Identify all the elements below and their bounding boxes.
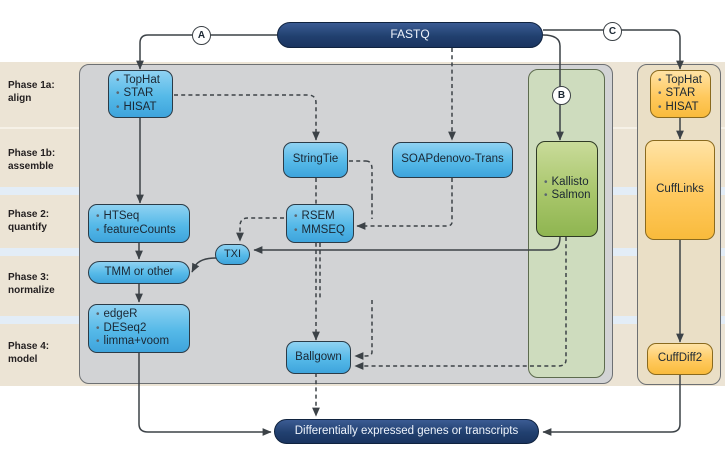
node-ballgown[interactable]: Ballgown [286, 341, 351, 374]
node-models[interactable]: edgeR DESeq2 limma+voom [88, 304, 190, 353]
node-models-item-1: DESeq2 [96, 322, 182, 336]
node-rsem-item-0: RSEM [294, 210, 346, 224]
node-output[interactable]: Differentially expressed genes or transc… [274, 419, 539, 444]
node-stringtie-label: StringTie [293, 153, 339, 167]
node-htseq-item-0: HTSeq [96, 210, 182, 224]
node-pseudoaligners-item-1: Salmon [544, 189, 590, 203]
node-aligners-gray-item-1: STAR [116, 87, 165, 101]
node-fastq-label: FASTQ [390, 28, 429, 42]
node-rsem-item-1: MMSEQ [294, 224, 346, 238]
node-output-label: Differentially expressed genes or transc… [295, 425, 519, 439]
marker-b-icon: B [552, 86, 571, 105]
node-soapdenovo[interactable]: SOAPdenovo-Trans [392, 142, 513, 178]
node-models-item-2: limma+voom [96, 335, 182, 349]
node-fastq[interactable]: FASTQ [277, 22, 543, 48]
node-aligners-gray[interactable]: TopHat STAR HISAT [108, 70, 173, 118]
node-tmm-label: TMM or other [104, 266, 173, 280]
node-cufflinks-label: CuffLinks [656, 183, 704, 197]
node-models-item-0: edgeR [96, 308, 182, 322]
node-aligners-orange-item-2: HISAT [658, 101, 703, 115]
node-aligners-orange-item-0: TopHat [658, 74, 703, 88]
node-ballgown-label: Ballgown [295, 351, 342, 365]
node-cuffdiff2-label: CuffDiff2 [658, 352, 702, 366]
node-aligners-orange-item-1: STAR [658, 87, 703, 101]
node-txi-label: TXI [224, 248, 241, 262]
node-htseq-item-1: featureCounts [96, 224, 182, 238]
marker-a-icon: A [192, 26, 211, 45]
node-aligners-orange[interactable]: TopHat STAR HISAT [650, 70, 711, 118]
marker-c-label: C [609, 26, 616, 37]
marker-b-label: B [558, 90, 565, 101]
node-soapdenovo-label: SOAPdenovo-Trans [401, 153, 503, 167]
node-rsem[interactable]: RSEM MMSEQ [286, 204, 354, 243]
node-aligners-gray-item-0: TopHat [116, 74, 165, 88]
node-pseudoaligners-item-0: Kallisto [544, 176, 590, 190]
node-tmm[interactable]: TMM or other [88, 261, 190, 284]
node-txi[interactable]: TXI [215, 244, 250, 265]
node-stringtie[interactable]: StringTie [283, 142, 348, 178]
node-cufflinks[interactable]: CuffLinks [645, 140, 715, 240]
marker-c-icon: C [603, 22, 622, 41]
marker-a-label: A [198, 30, 205, 41]
node-cuffdiff2[interactable]: CuffDiff2 [647, 343, 713, 375]
node-aligners-gray-item-2: HISAT [116, 101, 165, 115]
node-pseudoaligners[interactable]: Kallisto Salmon [536, 141, 598, 237]
node-htseq[interactable]: HTSeq featureCounts [88, 204, 190, 243]
workflow-diagram: Phase 1a: align Phase 1b: assemble Phase… [0, 0, 725, 453]
